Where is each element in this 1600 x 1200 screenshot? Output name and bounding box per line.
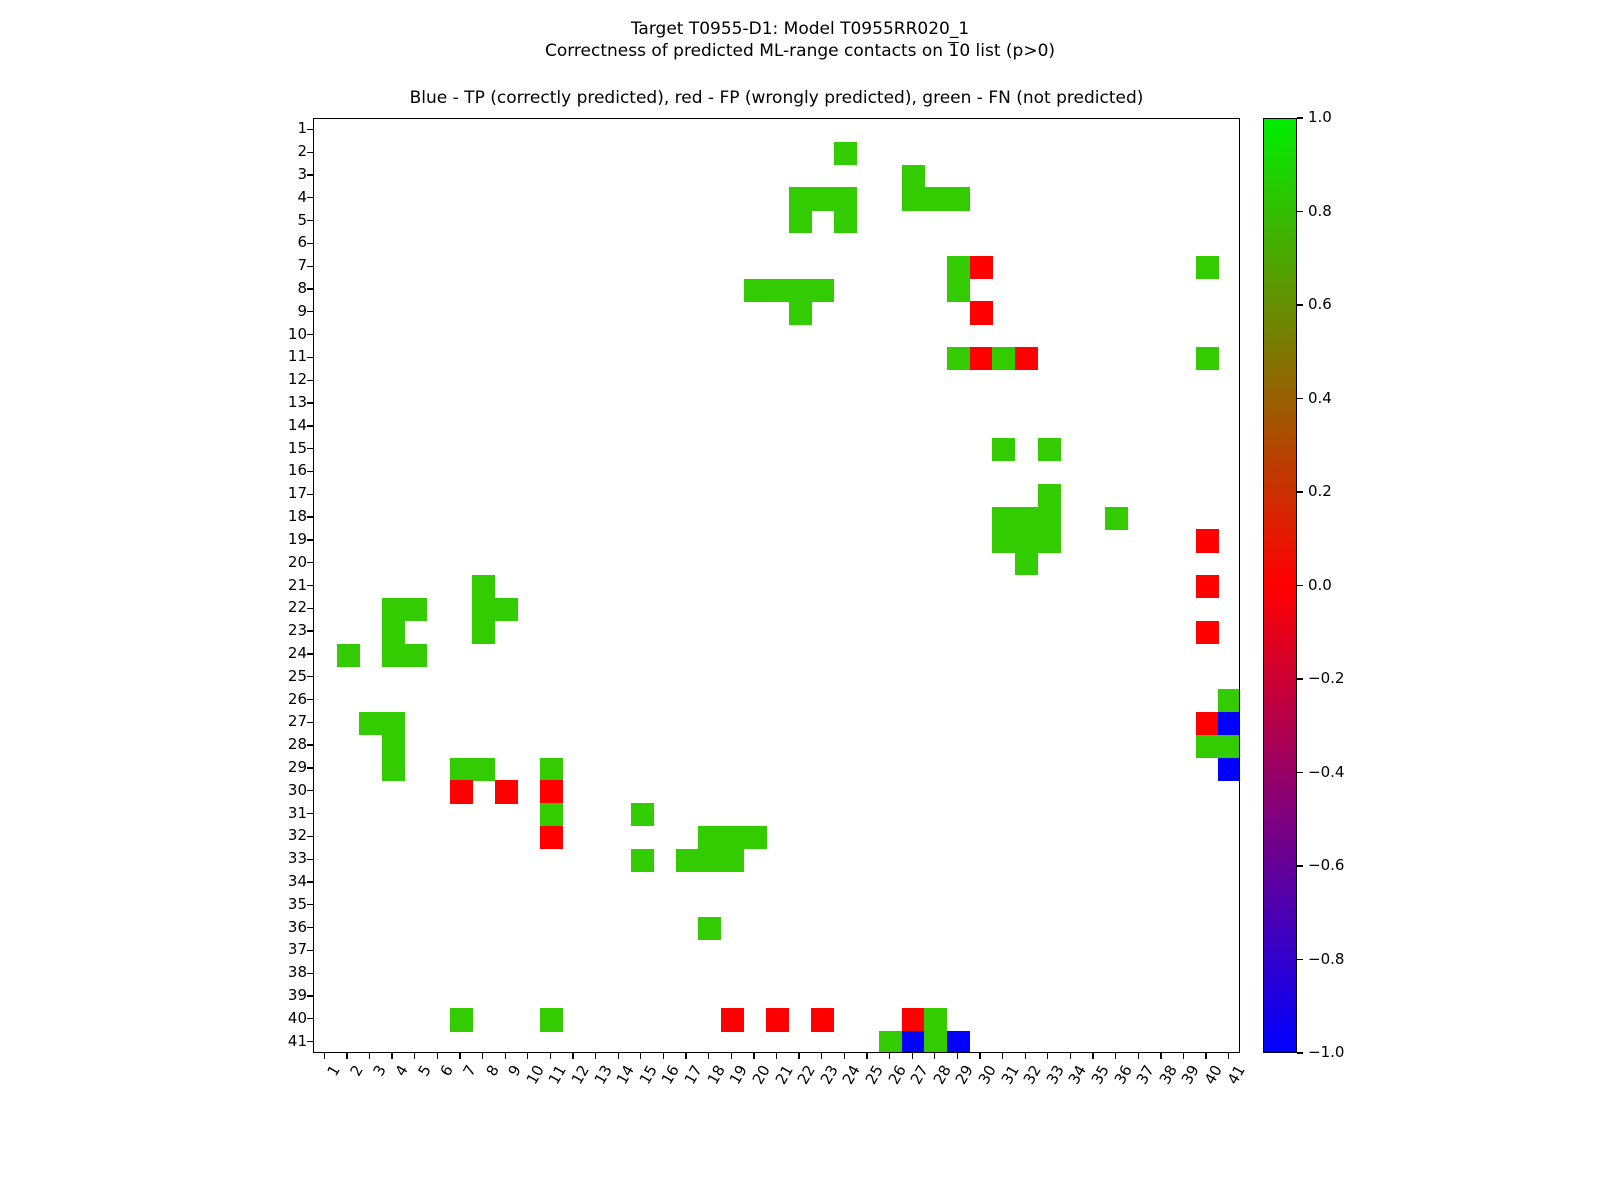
- x-tick-mark: [798, 1053, 799, 1059]
- contact-cell-fn: [359, 712, 382, 735]
- contact-cell-fn: [472, 621, 495, 644]
- y-tick-mark: [307, 676, 313, 677]
- contact-cell-fn: [631, 803, 654, 826]
- contact-cell-fn: [721, 826, 744, 849]
- x-tick-mark: [482, 1053, 483, 1059]
- contact-cell-fn: [1218, 689, 1240, 712]
- y-tick-mark: [307, 220, 313, 221]
- y-tick-mark: [307, 288, 313, 289]
- contact-cell-tp: [1218, 758, 1240, 781]
- y-tick-mark: [307, 197, 313, 198]
- contact-cell-fn: [382, 712, 405, 735]
- x-tick-mark: [844, 1053, 845, 1059]
- x-tick-mark: [1025, 1053, 1026, 1059]
- contact-cell-fn: [1015, 507, 1038, 530]
- x-tick-mark: [1228, 1053, 1229, 1059]
- suptitle-line-2-prefix: Correctness of predicted ML-range contac…: [545, 41, 949, 61]
- y-tick-label: 41: [288, 1034, 307, 1049]
- colorbar-tick-mark: [1297, 865, 1303, 866]
- x-tick-mark: [346, 1053, 347, 1059]
- x-tick-mark: [1138, 1053, 1139, 1059]
- contact-cell-fn: [1196, 735, 1219, 758]
- colorbar-gradient: [1264, 119, 1296, 1052]
- suptitle-line-2-suffix: 0 list (p>0): [959, 41, 1055, 61]
- y-tick-mark: [307, 995, 313, 996]
- x-tick-mark: [1092, 1053, 1093, 1059]
- contact-cell-fn: [1038, 507, 1061, 530]
- y-tick-mark: [307, 859, 313, 860]
- contact-cell-fn: [992, 347, 1015, 370]
- x-tick-mark: [685, 1053, 686, 1059]
- y-tick-label: 26: [288, 692, 307, 707]
- x-tick-mark: [459, 1053, 460, 1059]
- y-tick-label: 5: [297, 213, 307, 228]
- y-tick-label: 11: [288, 349, 307, 364]
- contact-cell-fn: [924, 187, 947, 210]
- contact-map-plot-area[interactable]: [313, 118, 1240, 1053]
- contact-cell-fp: [902, 1008, 925, 1031]
- y-tick-mark: [307, 425, 313, 426]
- contact-cell-fn: [382, 598, 405, 621]
- x-tick-mark: [1002, 1053, 1003, 1059]
- y-tick-mark: [307, 266, 313, 267]
- y-tick-label: 9: [297, 304, 307, 319]
- y-tick-mark: [307, 494, 313, 495]
- y-tick-label: 36: [288, 920, 307, 935]
- x-tick-mark: [1047, 1053, 1048, 1059]
- contact-cell-fn: [744, 279, 767, 302]
- colorbar-tick-mark: [1297, 491, 1303, 492]
- y-tick-label: 35: [288, 897, 307, 912]
- contact-cell-fn: [404, 644, 427, 667]
- y-tick-label: 24: [288, 646, 307, 661]
- x-tick-mark: [979, 1053, 980, 1059]
- contact-cell-fn: [924, 1031, 947, 1053]
- y-tick-label: 28: [288, 737, 307, 752]
- contact-cell-fn: [382, 644, 405, 667]
- y-tick-mark: [307, 950, 313, 951]
- contact-cell-fn: [1196, 347, 1219, 370]
- y-tick-mark: [307, 562, 313, 563]
- y-tick-mark: [307, 380, 313, 381]
- contact-cell-fn: [450, 1008, 473, 1031]
- contact-cell-tp: [902, 1031, 925, 1053]
- x-tick-mark: [889, 1053, 890, 1059]
- y-tick-mark: [307, 471, 313, 472]
- contact-cell-fp: [540, 780, 563, 803]
- y-tick-label: 31: [288, 806, 307, 821]
- x-tick-mark: [663, 1053, 664, 1059]
- colorbar-tick-label: 1.0: [1308, 110, 1332, 125]
- contact-cell-fn: [811, 279, 834, 302]
- axes-title-legend: Blue - TP (correctly predicted), red - F…: [313, 88, 1240, 108]
- y-tick-mark: [307, 448, 313, 449]
- y-tick-label: 20: [288, 555, 307, 570]
- y-tick-mark: [307, 836, 313, 837]
- x-tick-mark: [640, 1053, 641, 1059]
- y-tick-mark: [307, 904, 313, 905]
- y-tick-label: 14: [288, 418, 307, 433]
- y-tick-label: 29: [288, 760, 307, 775]
- contact-cell-fn: [744, 826, 767, 849]
- contact-cell-fp: [766, 1008, 789, 1031]
- contact-cell-fp: [1196, 621, 1219, 644]
- y-tick-label: 16: [288, 463, 307, 478]
- colorbar-tick-mark: [1297, 959, 1303, 960]
- x-tick-mark: [595, 1053, 596, 1059]
- y-tick-label: 39: [288, 988, 307, 1003]
- y-tick-mark: [307, 927, 313, 928]
- contact-cell-fn: [540, 758, 563, 781]
- x-tick-mark: [731, 1053, 732, 1059]
- y-tick-label: 6: [297, 235, 307, 250]
- x-tick-mark: [505, 1053, 506, 1059]
- y-tick-label: 19: [288, 532, 307, 547]
- x-tick-mark: [821, 1053, 822, 1059]
- y-tick-mark: [307, 744, 313, 745]
- contact-cell-fn: [902, 187, 925, 210]
- x-tick-mark: [1070, 1053, 1071, 1059]
- x-tick-mark: [866, 1053, 867, 1059]
- contact-cell-fn: [789, 301, 812, 324]
- contact-cell-fn: [540, 803, 563, 826]
- contact-cell-fn: [631, 849, 654, 872]
- contact-cell-fn: [472, 598, 495, 621]
- contact-cell-tp: [947, 1031, 970, 1053]
- y-tick-mark: [307, 402, 313, 403]
- x-tick-mark: [527, 1053, 528, 1059]
- suptitle-overbar-one: 1: [948, 42, 959, 60]
- x-tick-mark: [550, 1053, 551, 1059]
- x-tick-mark: [1205, 1053, 1206, 1059]
- y-tick-mark: [307, 790, 313, 791]
- contact-cell-fn: [879, 1031, 902, 1053]
- contact-cell-fp: [970, 347, 993, 370]
- x-tick-mark: [1183, 1053, 1184, 1059]
- y-tick-label: 38: [288, 965, 307, 980]
- contact-cell-fp: [1196, 529, 1219, 552]
- y-tick-mark: [307, 1041, 313, 1042]
- y-tick-mark: [307, 243, 313, 244]
- contact-cell-fn: [337, 644, 360, 667]
- contact-cell-fn: [382, 621, 405, 644]
- x-tick-mark: [753, 1053, 754, 1059]
- colorbar-tick-mark: [1297, 117, 1303, 118]
- contact-cell-fn: [450, 758, 473, 781]
- colorbar-tick-label: −0.4: [1308, 765, 1344, 780]
- y-tick-mark: [307, 608, 313, 609]
- y-tick-label: 2: [297, 144, 307, 159]
- contact-cell-fn: [1038, 529, 1061, 552]
- y-tick-label: 23: [288, 623, 307, 638]
- contact-cell-fn: [495, 598, 518, 621]
- y-tick-label: 40: [288, 1011, 307, 1026]
- contact-cell-fn: [698, 917, 721, 940]
- contact-cell-fn: [992, 438, 1015, 461]
- contact-cell-fp: [970, 301, 993, 324]
- x-tick-mark: [957, 1053, 958, 1059]
- contact-cell-fn: [698, 849, 721, 872]
- contact-cell-fn: [947, 279, 970, 302]
- colorbar-tick-mark: [1297, 398, 1303, 399]
- y-tick-label: 18: [288, 509, 307, 524]
- y-tick-mark: [307, 973, 313, 974]
- y-tick-mark: [307, 585, 313, 586]
- colorbar-tick-mark: [1297, 678, 1303, 679]
- x-tick-mark: [324, 1053, 325, 1059]
- contact-cell-fn: [789, 187, 812, 210]
- x-tick-mark: [1160, 1053, 1161, 1059]
- colorbar-tick-label: 0.6: [1308, 297, 1332, 312]
- y-tick-label: 17: [288, 486, 307, 501]
- y-tick-label: 13: [288, 395, 307, 410]
- y-tick-label: 1: [297, 121, 307, 136]
- colorbar-tick-label: −0.2: [1308, 671, 1344, 686]
- y-tick-label: 15: [288, 441, 307, 456]
- y-tick-label: 3: [297, 167, 307, 182]
- y-tick-label: 7: [297, 258, 307, 273]
- x-tick-mark: [572, 1053, 573, 1059]
- colorbar-tick-mark: [1297, 304, 1303, 305]
- y-tick-label: 37: [288, 942, 307, 957]
- contact-cell-fn: [1038, 484, 1061, 507]
- contact-cell-fn: [947, 256, 970, 279]
- contact-map-cells: [314, 119, 1239, 1052]
- y-tick-mark: [307, 653, 313, 654]
- contact-cell-fn: [1218, 735, 1240, 758]
- colorbar-tick-label: −1.0: [1308, 1045, 1344, 1060]
- contact-cell-fn: [834, 187, 857, 210]
- colorbar-tick-mark: [1297, 772, 1303, 773]
- contact-cell-fp: [970, 256, 993, 279]
- y-tick-label: 22: [288, 600, 307, 615]
- contact-cell-fn: [992, 507, 1015, 530]
- contact-cell-fn: [902, 165, 925, 188]
- y-tick-mark: [307, 767, 313, 768]
- contact-cell-fn: [1015, 552, 1038, 575]
- x-tick-mark: [437, 1053, 438, 1059]
- contact-cell-fn: [947, 347, 970, 370]
- x-tick-mark: [618, 1053, 619, 1059]
- contact-cell-fn: [1015, 529, 1038, 552]
- contact-cell-fp: [811, 1008, 834, 1031]
- contact-cell-fn: [698, 826, 721, 849]
- contact-cell-fp: [721, 1008, 744, 1031]
- y-tick-mark: [307, 174, 313, 175]
- contact-cell-fn: [1105, 507, 1128, 530]
- y-tick-mark: [307, 311, 313, 312]
- y-tick-mark: [307, 881, 313, 882]
- colorbar-tick-label: 0.2: [1308, 484, 1332, 499]
- contact-cell-fn: [1196, 256, 1219, 279]
- suptitle-line-2: Correctness of predicted ML-range contac…: [0, 40, 1600, 62]
- colorbar-tick-mark: [1297, 211, 1303, 212]
- colorbar-tick-label: 0.8: [1308, 204, 1332, 219]
- figure-suptitle: Target T0955-D1: Model T0955RR020_1 Corr…: [0, 18, 1600, 62]
- colorbar-tick-mark: [1297, 1052, 1303, 1053]
- x-tick-mark: [414, 1053, 415, 1059]
- contact-cell-fn: [472, 758, 495, 781]
- y-tick-label: 25: [288, 669, 307, 684]
- contact-cell-fn: [992, 529, 1015, 552]
- y-tick-mark: [307, 129, 313, 130]
- colorbar-tick-mark: [1297, 585, 1303, 586]
- x-tick-mark: [708, 1053, 709, 1059]
- y-tick-label: 4: [297, 190, 307, 205]
- contact-cell-fn: [1038, 438, 1061, 461]
- contact-cell-fp: [495, 780, 518, 803]
- colorbar[interactable]: [1263, 118, 1297, 1053]
- contact-cell-fp: [1015, 347, 1038, 370]
- contact-cell-fn: [924, 1008, 947, 1031]
- y-tick-label: 34: [288, 874, 307, 889]
- y-tick-label: 12: [288, 372, 307, 387]
- x-tick-mark: [912, 1053, 913, 1059]
- y-tick-label: 8: [297, 281, 307, 296]
- x-tick-mark: [1115, 1053, 1116, 1059]
- contact-cell-fn: [382, 735, 405, 758]
- y-tick-mark: [307, 813, 313, 814]
- y-tick-mark: [307, 699, 313, 700]
- x-tick-mark: [776, 1053, 777, 1059]
- suptitle-line-1: Target T0955-D1: Model T0955RR020_1: [0, 18, 1600, 40]
- y-tick-label: 21: [288, 578, 307, 593]
- y-tick-label: 33: [288, 851, 307, 866]
- contact-cell-fn: [834, 142, 857, 165]
- x-tick-mark: [369, 1053, 370, 1059]
- x-tick-mark: [391, 1053, 392, 1059]
- contact-cell-fn: [676, 849, 699, 872]
- contact-cell-tp: [1218, 712, 1240, 735]
- contact-cell-fn: [721, 849, 744, 872]
- contact-cell-fn: [766, 279, 789, 302]
- y-tick-label: 30: [288, 783, 307, 798]
- contact-cell-fp: [1196, 712, 1219, 735]
- y-tick-mark: [307, 722, 313, 723]
- contact-cell-fp: [540, 826, 563, 849]
- colorbar-tick-label: −0.6: [1308, 858, 1344, 873]
- contact-cell-fn: [811, 187, 834, 210]
- y-tick-mark: [307, 1018, 313, 1019]
- contact-cell-fn: [789, 279, 812, 302]
- y-tick-mark: [307, 630, 313, 631]
- y-tick-label: 27: [288, 714, 307, 729]
- x-tick-mark: [934, 1053, 935, 1059]
- contact-cell-fn: [947, 187, 970, 210]
- y-tick-label: 10: [288, 327, 307, 342]
- contact-cell-fn: [789, 210, 812, 233]
- contact-cell-fn: [540, 1008, 563, 1031]
- contact-cell-fn: [404, 598, 427, 621]
- y-tick-mark: [307, 539, 313, 540]
- contact-cell-fn: [382, 758, 405, 781]
- colorbar-tick-label: 0.4: [1308, 391, 1332, 406]
- colorbar-tick-label: −0.8: [1308, 952, 1344, 967]
- contact-cell-fp: [450, 780, 473, 803]
- y-tick-label: 32: [288, 828, 307, 843]
- contact-cell-fp: [1196, 575, 1219, 598]
- y-tick-mark: [307, 516, 313, 517]
- y-tick-mark: [307, 357, 313, 358]
- y-tick-mark: [307, 152, 313, 153]
- colorbar-tick-label: 0.0: [1308, 578, 1332, 593]
- y-tick-mark: [307, 334, 313, 335]
- contact-cell-fn: [472, 575, 495, 598]
- contact-cell-fn: [834, 210, 857, 233]
